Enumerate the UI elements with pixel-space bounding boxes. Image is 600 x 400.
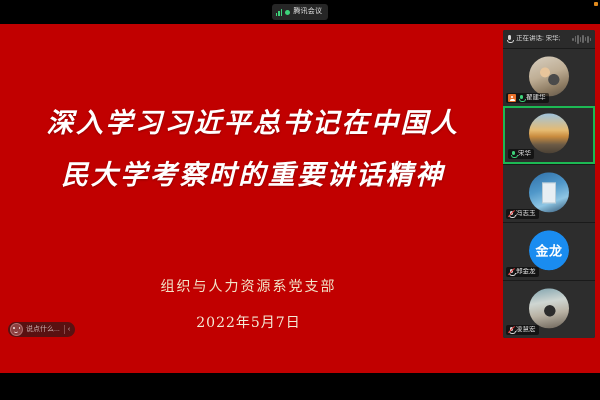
microphone-muted-icon[interactable] <box>508 210 514 218</box>
microphone-muted-icon[interactable] <box>508 268 514 276</box>
avatar-initials: 金龙 <box>529 230 569 270</box>
microphone-on-icon[interactable] <box>518 94 524 102</box>
avatar-photo <box>529 288 569 328</box>
participant-tile[interactable]: 宋华 <box>503 106 595 164</box>
app-title: 腾讯会议 <box>293 8 322 16</box>
participant-tile[interactable]: 冯志玉 <box>503 164 595 222</box>
slide-organization: 组织与人力资源系党支部 <box>0 276 497 296</box>
chevron-left-icon[interactable]: ‹ <box>65 325 73 334</box>
slide-title: 深入学习习近平总书记在中国人 民大学考察时的重要讲话精神 <box>38 98 468 202</box>
active-speaker-header: 正在讲话: 宋华; <box>503 30 595 48</box>
avatar <box>529 56 569 96</box>
avatar-photo <box>529 113 569 153</box>
microphone-icon <box>507 35 512 43</box>
window-bottom-band <box>0 373 600 400</box>
participant-tile-list: 翟建华宋华冯志玉金龙郑金龙凌慧宏 <box>503 48 595 338</box>
microphone-muted-icon[interactable] <box>508 326 514 334</box>
active-speaker-label: 正在讲话: 宋华; <box>516 35 568 43</box>
chat-input-placeholder[interactable]: 说点什么... <box>26 325 64 334</box>
slide-title-line-2: 民大学考察时的重要讲话精神 <box>38 150 468 202</box>
avatar-photo <box>529 56 569 96</box>
participant-name-bar: 翟建华 <box>506 93 549 103</box>
avatar-photo <box>529 172 569 212</box>
avatar <box>529 288 569 328</box>
participant-name: 翟建华 <box>526 94 546 102</box>
chat-input-bar[interactable]: 说点什么... ‹ <box>8 322 75 337</box>
participant-name: 宋华 <box>518 150 531 158</box>
participant-tile[interactable]: 金龙郑金龙 <box>503 222 595 280</box>
meeting-top-bar: 腾讯会议 <box>0 0 600 24</box>
smiley-face-icon[interactable] <box>10 323 23 336</box>
signal-strength-icon <box>276 8 283 16</box>
host-badge-icon <box>508 94 516 102</box>
participant-tile[interactable]: 翟建华 <box>503 48 595 106</box>
participant-name-bar: 宋华 <box>508 149 534 159</box>
participant-filmstrip: 正在讲话: 宋华; 翟建华宋华冯志玉金龙郑金龙凌慧宏 <box>503 30 595 338</box>
avatar <box>529 113 569 153</box>
participant-tile[interactable]: 凌慧宏 <box>503 280 595 338</box>
participant-name-bar: 冯志玉 <box>506 209 539 219</box>
meeting-app-pill[interactable]: 腾讯会议 <box>272 4 328 20</box>
presentation-slide: 深入学习习近平总书记在中国人 民大学考察时的重要讲话精神 组织与人力资源系党支部… <box>0 24 497 373</box>
notification-dot-icon <box>594 2 598 6</box>
participant-name-bar: 凌慧宏 <box>506 325 539 335</box>
avatar: 金龙 <box>529 230 569 270</box>
participant-name-bar: 郑金龙 <box>506 267 539 277</box>
meeting-window: 腾讯会议 深入学习习近平总书记在中国人 民大学考察时的重要讲话精神 组织与人力资… <box>0 0 600 400</box>
participant-name: 冯志玉 <box>516 210 536 218</box>
audio-waveform-icon <box>572 34 591 44</box>
avatar <box>529 172 569 212</box>
microphone-on-icon[interactable] <box>510 150 516 158</box>
participant-name: 凌慧宏 <box>516 326 536 334</box>
participant-name: 郑金龙 <box>516 268 536 276</box>
recording-indicator-icon <box>285 10 290 15</box>
slide-title-line-1: 深入学习习近平总书记在中国人 <box>38 98 468 150</box>
